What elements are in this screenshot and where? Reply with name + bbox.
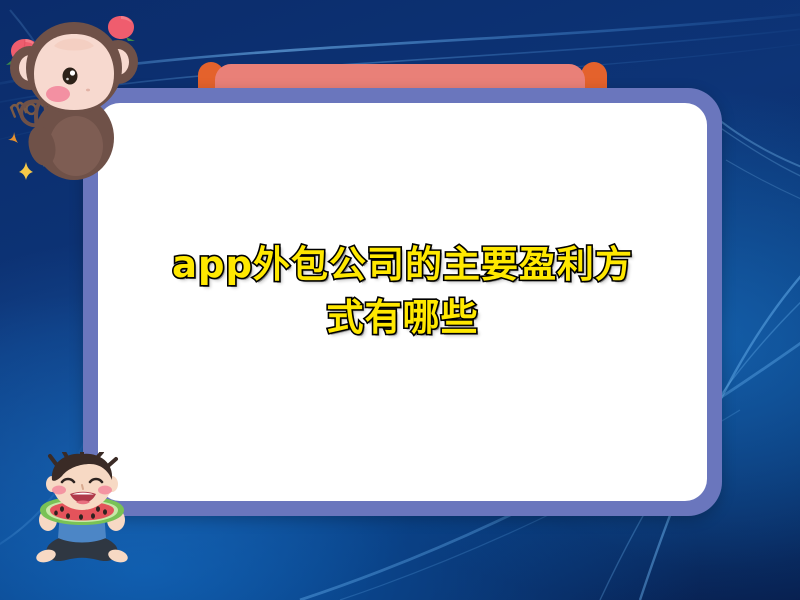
title-block: app外包公司的主要盈利方 式有哪些 bbox=[120, 238, 685, 344]
slide-canvas: app外包公司的主要盈利方 式有哪些 bbox=[0, 0, 800, 600]
title-line-1: app外包公司的主要盈利方 bbox=[120, 238, 685, 291]
title-line-2: 式有哪些 bbox=[120, 291, 685, 344]
